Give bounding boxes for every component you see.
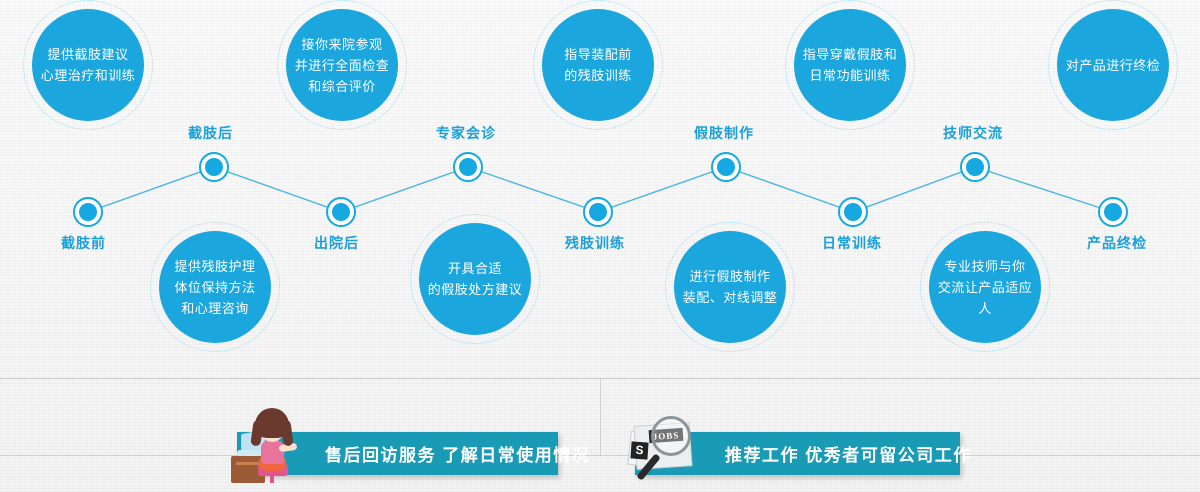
banner-aftersales-text: 售后回访服务 了解日常使用情况 (325, 441, 590, 466)
bubble-line: 专业技师与你 (935, 256, 1035, 277)
timeline-node-step-3[interactable] (326, 197, 356, 227)
timeline-label-step-6: 假肢制作 (694, 124, 754, 142)
bubble-line: 对产品进行终检 (1066, 55, 1161, 76)
banner-aftersales[interactable]: 售后回访服务 了解日常使用情况 (237, 432, 558, 475)
bubble-line: 心理治疗和训练 (41, 65, 136, 86)
timeline-label-step-9: 产品终检 (1087, 234, 1147, 252)
bubble-line: 提供截肢建议 (41, 44, 136, 65)
timeline-label-step-3: 出院后 (314, 234, 359, 252)
timeline-bubble-step-4[interactable]: 开具合适 的假肢处方建议 (410, 214, 540, 344)
bubble-line: 的假肢处方建议 (428, 279, 523, 300)
bubble-line: 指导穿戴假肢和 (803, 44, 898, 65)
bubble-line: 装配、对线调整 (683, 287, 778, 308)
jobs-magnifier-icon: JOBS (627, 408, 711, 488)
timeline-label-step-8: 技师交流 (943, 124, 1003, 142)
timeline-bubble-step-9[interactable]: 对产品进行终检 (1048, 0, 1178, 130)
bubble-text-step-8: 专业技师与你 交流让产品适应人 (929, 231, 1041, 343)
timeline-node-step-9[interactable] (1098, 197, 1128, 227)
bubble-text-step-7: 指导穿戴假肢和 日常功能训练 (794, 9, 906, 121)
timeline-node-step-4[interactable] (453, 152, 483, 182)
bubble-line: 日常功能训练 (803, 65, 898, 86)
bubble-line: 并进行全面检查 (295, 55, 390, 76)
timeline-node-step-7[interactable] (838, 197, 868, 227)
section-divider-vertical (600, 378, 601, 455)
timeline-label-step-4: 专家会诊 (436, 124, 496, 142)
timeline-node-step-5[interactable] (583, 197, 613, 227)
bubble-line: 指导装配前 (564, 44, 632, 65)
timeline-bubble-step-5[interactable]: 指导装配前 的残肢训练 (533, 0, 663, 130)
timeline-bubble-step-3[interactable]: 接你来院参观 并进行全面检查 和综合评价 (277, 0, 407, 130)
timeline-node-step-8[interactable] (960, 152, 990, 182)
timeline-node-step-1[interactable] (73, 197, 103, 227)
bubble-text-step-5: 指导装配前 的残肢训练 (542, 9, 654, 121)
woman-at-desk-icon (235, 406, 315, 484)
bubble-line: 接你来院参观 (295, 34, 390, 55)
bubble-line: 体位保持方法 (174, 277, 255, 298)
banner-jobs-text: 推荐工作 优秀者可留公司工作 (725, 441, 972, 466)
timeline-bubble-step-2[interactable]: 提供残肢护理 体位保持方法 和心理咨询 (150, 222, 280, 352)
bubble-line: 开具合适 (428, 258, 523, 279)
bubble-text-step-3: 接你来院参观 并进行全面检查 和综合评价 (286, 9, 398, 121)
timeline-bubble-step-8[interactable]: 专业技师与你 交流让产品适应人 (920, 222, 1050, 352)
bubble-text-step-4: 开具合适 的假肢处方建议 (419, 223, 531, 335)
timeline-label-step-5: 残肢训练 (565, 234, 625, 252)
bubble-text-step-9: 对产品进行终检 (1057, 9, 1169, 121)
bubble-text-step-2: 提供残肢护理 体位保持方法 和心理咨询 (159, 231, 271, 343)
timeline-label-step-2: 截肢后 (188, 124, 233, 142)
bubble-line: 提供残肢护理 (174, 256, 255, 277)
bubble-line: 和综合评价 (295, 76, 390, 97)
timeline-bubble-step-7[interactable]: 指导穿戴假肢和 日常功能训练 (785, 0, 915, 130)
timeline-bubble-step-6[interactable]: 进行假肢制作 装配、对线调整 (665, 222, 795, 352)
timeline-node-step-2[interactable] (199, 152, 229, 182)
bubble-text-step-1: 提供截肢建议 心理治疗和训练 (32, 9, 144, 121)
timeline-node-step-6[interactable] (711, 152, 741, 182)
bubble-line: 交流让产品适应人 (935, 277, 1035, 319)
bubble-text-step-6: 进行假肢制作 装配、对线调整 (674, 231, 786, 343)
section-divider-bottom (0, 455, 1200, 456)
timeline-bubble-step-1[interactable]: 提供截肢建议 心理治疗和训练 (23, 0, 153, 130)
bubble-line: 的残肢训练 (564, 65, 632, 86)
banner-jobs[interactable]: JOBS 推荐工作 优秀者可留公司工作 (635, 432, 960, 475)
timeline-label-step-1: 截肢前 (61, 234, 106, 252)
bubble-line: 和心理咨询 (174, 298, 255, 319)
timeline-infographic: 截肢前 截肢后 出院后 专家会诊 残肢训练 假肢制作 日常训练 技师交流 产品终… (0, 0, 1200, 492)
bubble-line: 进行假肢制作 (683, 266, 778, 287)
timeline-label-step-7: 日常训练 (822, 234, 882, 252)
